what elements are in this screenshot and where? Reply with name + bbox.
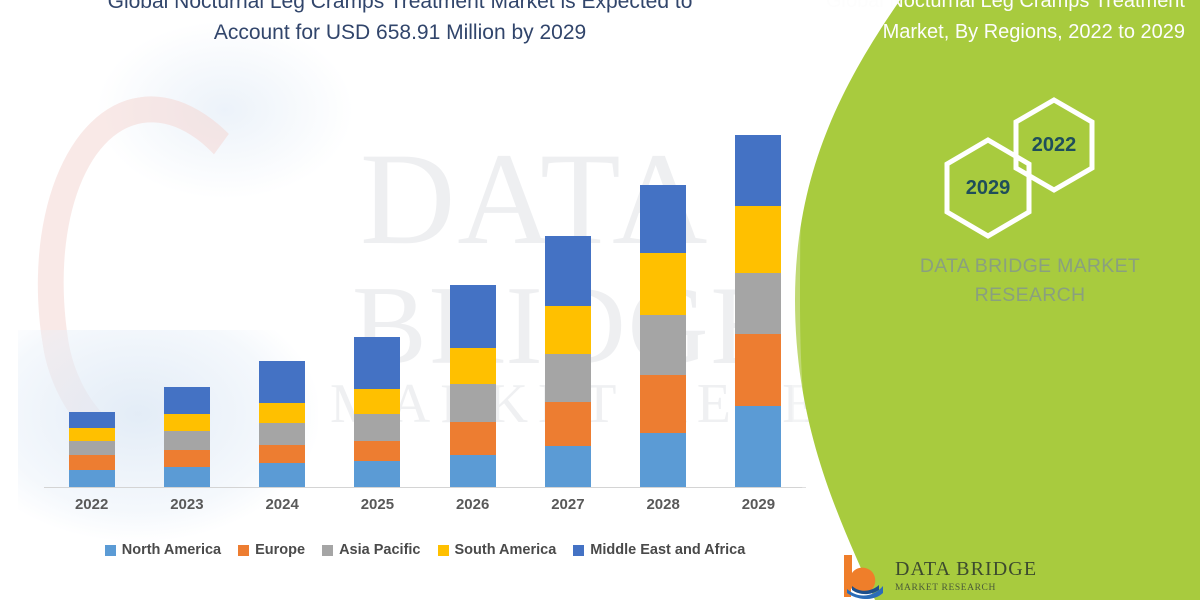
bar-segment bbox=[735, 206, 781, 273]
bar-segment bbox=[640, 185, 686, 253]
bar-segment bbox=[450, 384, 496, 422]
bar-segment bbox=[259, 403, 305, 423]
bar-column bbox=[354, 100, 400, 488]
bar-segment bbox=[735, 135, 781, 206]
legend-swatch-icon bbox=[438, 545, 449, 556]
bar-segment bbox=[735, 273, 781, 334]
hexagon-badge-2022-label: 2022 bbox=[1032, 134, 1077, 157]
bar-segment bbox=[735, 406, 781, 488]
databridge-b-icon bbox=[838, 553, 884, 599]
bar-segment bbox=[69, 412, 115, 428]
footer-logo-text: DATA BRIDGE MARKET RESEARCH bbox=[895, 553, 1037, 593]
legend-swatch-icon bbox=[573, 545, 584, 556]
bar-segment bbox=[450, 455, 496, 488]
brand-name: DATA BRIDGE MARKET RESEARCH bbox=[880, 252, 1180, 310]
x-axis-label: 2029 bbox=[735, 496, 781, 520]
bar-column bbox=[69, 100, 115, 488]
bar-segment bbox=[354, 461, 400, 488]
legend-label: Asia Pacific bbox=[339, 542, 420, 558]
x-axis-label: 2027 bbox=[545, 496, 591, 520]
chart-legend: North AmericaEuropeAsia PacificSouth Ame… bbox=[44, 538, 806, 562]
bar-segment bbox=[69, 441, 115, 455]
bar-segment bbox=[259, 445, 305, 463]
bar-segment bbox=[354, 414, 400, 441]
bar-segment bbox=[450, 285, 496, 348]
panel-title: Global Nocturnal Leg Cramps Treatment Ma… bbox=[795, 0, 1200, 48]
chart-title: Global Nocturnal Leg Cramps Treatment Ma… bbox=[70, 0, 730, 48]
bar-segment bbox=[164, 431, 210, 450]
x-axis-label: 2025 bbox=[354, 496, 400, 520]
legend-item[interactable]: South America bbox=[438, 542, 557, 558]
legend-item[interactable]: North America bbox=[105, 542, 221, 558]
x-axis-labels: 20222023202420252026202720282029 bbox=[44, 496, 806, 520]
legend-label: South America bbox=[455, 542, 557, 558]
bar-column bbox=[640, 100, 686, 488]
bar-segment bbox=[354, 337, 400, 389]
x-axis-label: 2024 bbox=[259, 496, 305, 520]
bar-segment bbox=[164, 467, 210, 488]
x-axis-label: 2022 bbox=[69, 496, 115, 520]
bar-column bbox=[735, 100, 781, 488]
bar-segment bbox=[69, 428, 115, 441]
legend-swatch-icon bbox=[238, 545, 249, 556]
bar-segment bbox=[640, 433, 686, 488]
legend-label: Europe bbox=[255, 542, 305, 558]
legend-swatch-icon bbox=[322, 545, 333, 556]
legend-label: Middle East and Africa bbox=[590, 542, 745, 558]
bar-segment bbox=[354, 441, 400, 461]
bar-segment bbox=[545, 402, 591, 446]
bar-segment bbox=[259, 361, 305, 403]
legend-label: North America bbox=[122, 542, 221, 558]
bar-segment bbox=[259, 463, 305, 488]
legend-swatch-icon bbox=[105, 545, 116, 556]
bar-segment bbox=[545, 446, 591, 488]
x-axis-label: 2026 bbox=[450, 496, 496, 520]
bar-segment bbox=[164, 387, 210, 414]
bar-column bbox=[164, 100, 210, 488]
bar-segment bbox=[640, 253, 686, 315]
legend-item[interactable]: Asia Pacific bbox=[322, 542, 420, 558]
legend-item[interactable]: Europe bbox=[238, 542, 305, 558]
bar-segment bbox=[164, 450, 210, 467]
hexagon-badge-2029-label: 2029 bbox=[966, 177, 1011, 200]
bar-segment bbox=[640, 375, 686, 433]
footer-logo-tagline: MARKET RESEARCH bbox=[895, 583, 1037, 593]
infographic-root: DATA BRIDGE MARKET RESEARCH Global Noctu… bbox=[0, 0, 1200, 600]
bar-segment bbox=[450, 348, 496, 384]
bar-segment bbox=[640, 315, 686, 375]
bar-segment bbox=[164, 414, 210, 431]
bar-segment bbox=[354, 389, 400, 414]
bar-column bbox=[545, 100, 591, 488]
bar-segment bbox=[735, 334, 781, 406]
stacked-bar-chart bbox=[44, 100, 806, 488]
bar-segment bbox=[545, 306, 591, 354]
bar-segment bbox=[545, 354, 591, 402]
bar-segment bbox=[69, 470, 115, 488]
bar-segment bbox=[450, 422, 496, 455]
bar-segment bbox=[545, 236, 591, 306]
x-axis-label: 2023 bbox=[164, 496, 210, 520]
x-axis-label: 2028 bbox=[640, 496, 686, 520]
x-axis-line bbox=[44, 487, 806, 488]
bar-column bbox=[450, 100, 496, 488]
bar-segment bbox=[69, 455, 115, 470]
footer-logo: DATA BRIDGE MARKET RESEARCH bbox=[838, 553, 1168, 600]
bar-column bbox=[259, 100, 305, 488]
hexagon-badge-2029: 2029 bbox=[938, 136, 1038, 240]
legend-item[interactable]: Middle East and Africa bbox=[573, 542, 745, 558]
bar-segment bbox=[259, 423, 305, 445]
footer-logo-title: DATA BRIDGE bbox=[895, 558, 1037, 581]
